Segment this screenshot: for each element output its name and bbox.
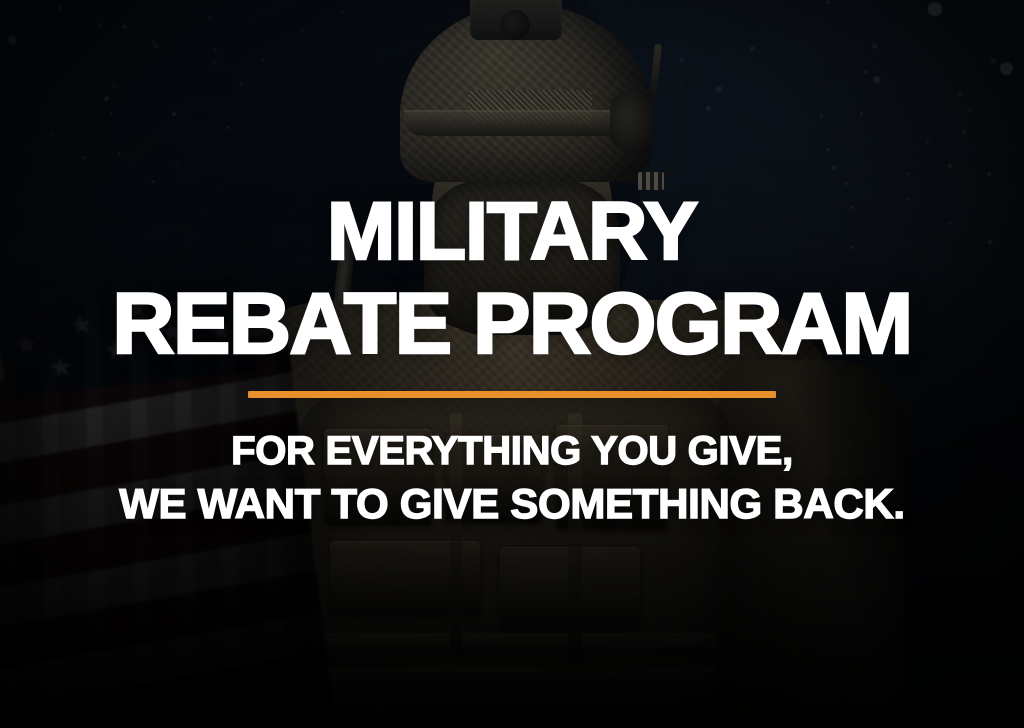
subheadline: FOR EVERYTHING YOU GIVE, WE WANT TO GIVE… [0,426,1024,531]
subheadline-line-2: WE WANT TO GIVE SOMETHING BACK. [0,477,1024,531]
page-title: MILITARY REBATE PROGRAM [0,0,1024,367]
headline-line-1: MILITARY [0,192,1024,272]
soldier-right-arm [719,360,904,728]
military-rebate-banner: ★ ★ ★ ★ ★ ★ ★ ★ MILITARY REBATE PROGRAM … [0,0,1024,728]
subheadline-line-1: FOR EVERYTHING YOU GIVE, [0,426,1024,477]
headline-line-2: REBATE PROGRAM [0,282,1024,366]
accent-divider [248,391,776,398]
